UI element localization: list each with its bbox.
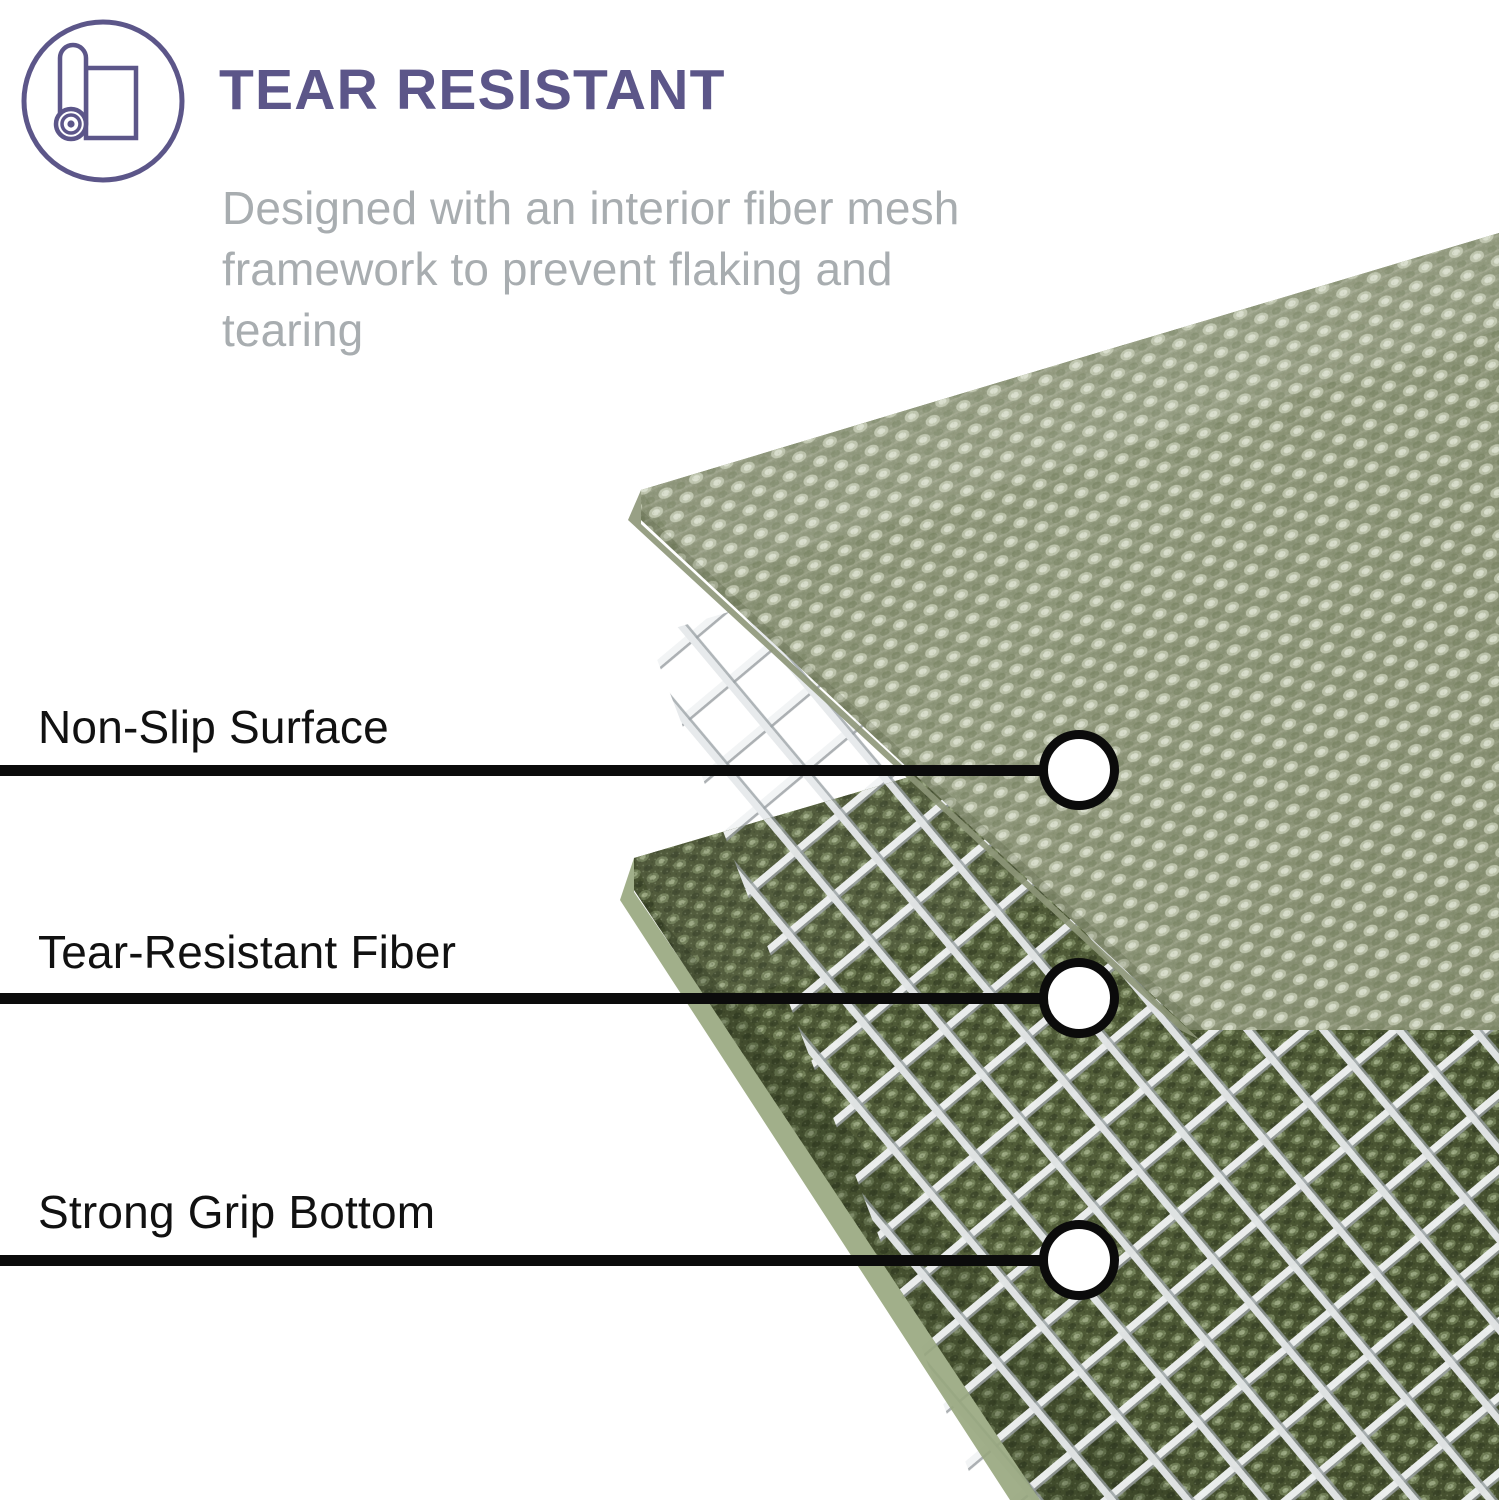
callout-leader-line — [0, 993, 1062, 1004]
callout-label: Non-Slip Surface — [38, 700, 389, 754]
callout-label: Tear-Resistant Fiber — [38, 925, 456, 979]
callout-dot-icon — [1039, 730, 1119, 810]
callout-dot-icon — [1039, 1220, 1119, 1300]
callout-label: Strong Grip Bottom — [38, 1185, 435, 1239]
callout-dot-icon — [1039, 958, 1119, 1038]
infographic-page: TEAR RESISTANT Designed with an interior… — [0, 0, 1499, 1500]
callout-leader-line — [0, 1255, 1062, 1266]
rolled-mat-icon — [14, 12, 192, 190]
page-subtitle: Designed with an interior fiber mesh fra… — [222, 178, 982, 362]
page-title: TEAR RESISTANT — [219, 62, 726, 119]
callout-leader-line — [0, 765, 1062, 776]
